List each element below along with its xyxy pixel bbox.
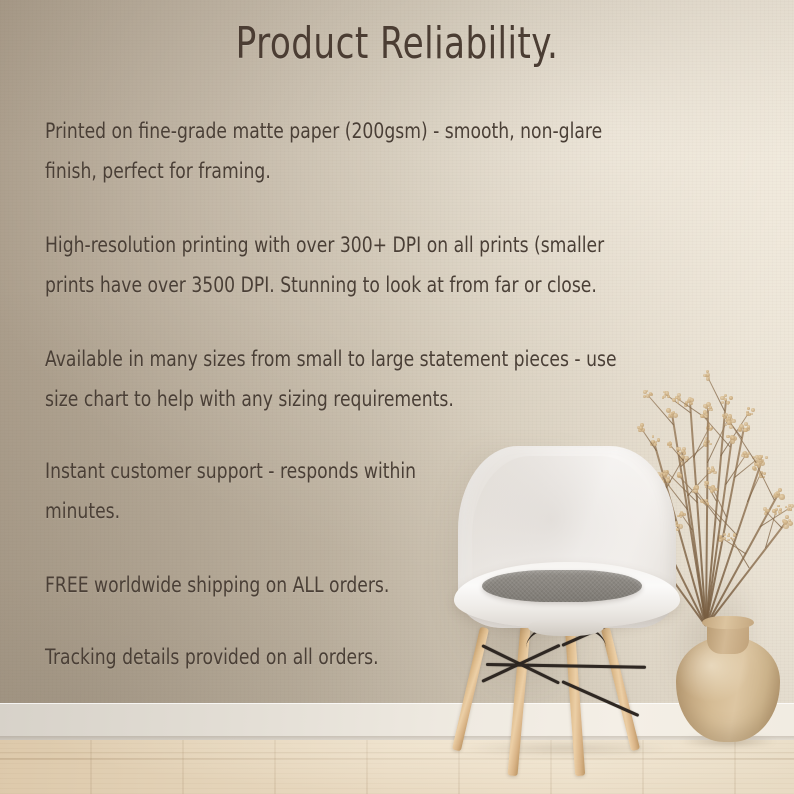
paragraph-instant-support: Instant customer support - responds with…	[45, 452, 653, 532]
paragraph-free-shipping: FREE worldwide shipping on ALL orders.	[45, 566, 653, 606]
paragraph-printed-matte-paper: Printed on fine-grade matte paper (200gs…	[45, 112, 653, 192]
paragraph-high-resolution-dpi: High-resolution printing with over 300+ …	[45, 226, 653, 306]
page-title: Product Reliability.	[87, 18, 706, 69]
paragraph-available-sizes: Available in many sizes from small to la…	[45, 340, 653, 420]
paragraph-tracking-details: Tracking details provided on all orders.	[45, 638, 653, 678]
product-reliability-wall-scene: Product Reliability. Printed on fine-gra…	[0, 0, 794, 794]
text-layer: Product Reliability. Printed on fine-gra…	[0, 0, 794, 794]
